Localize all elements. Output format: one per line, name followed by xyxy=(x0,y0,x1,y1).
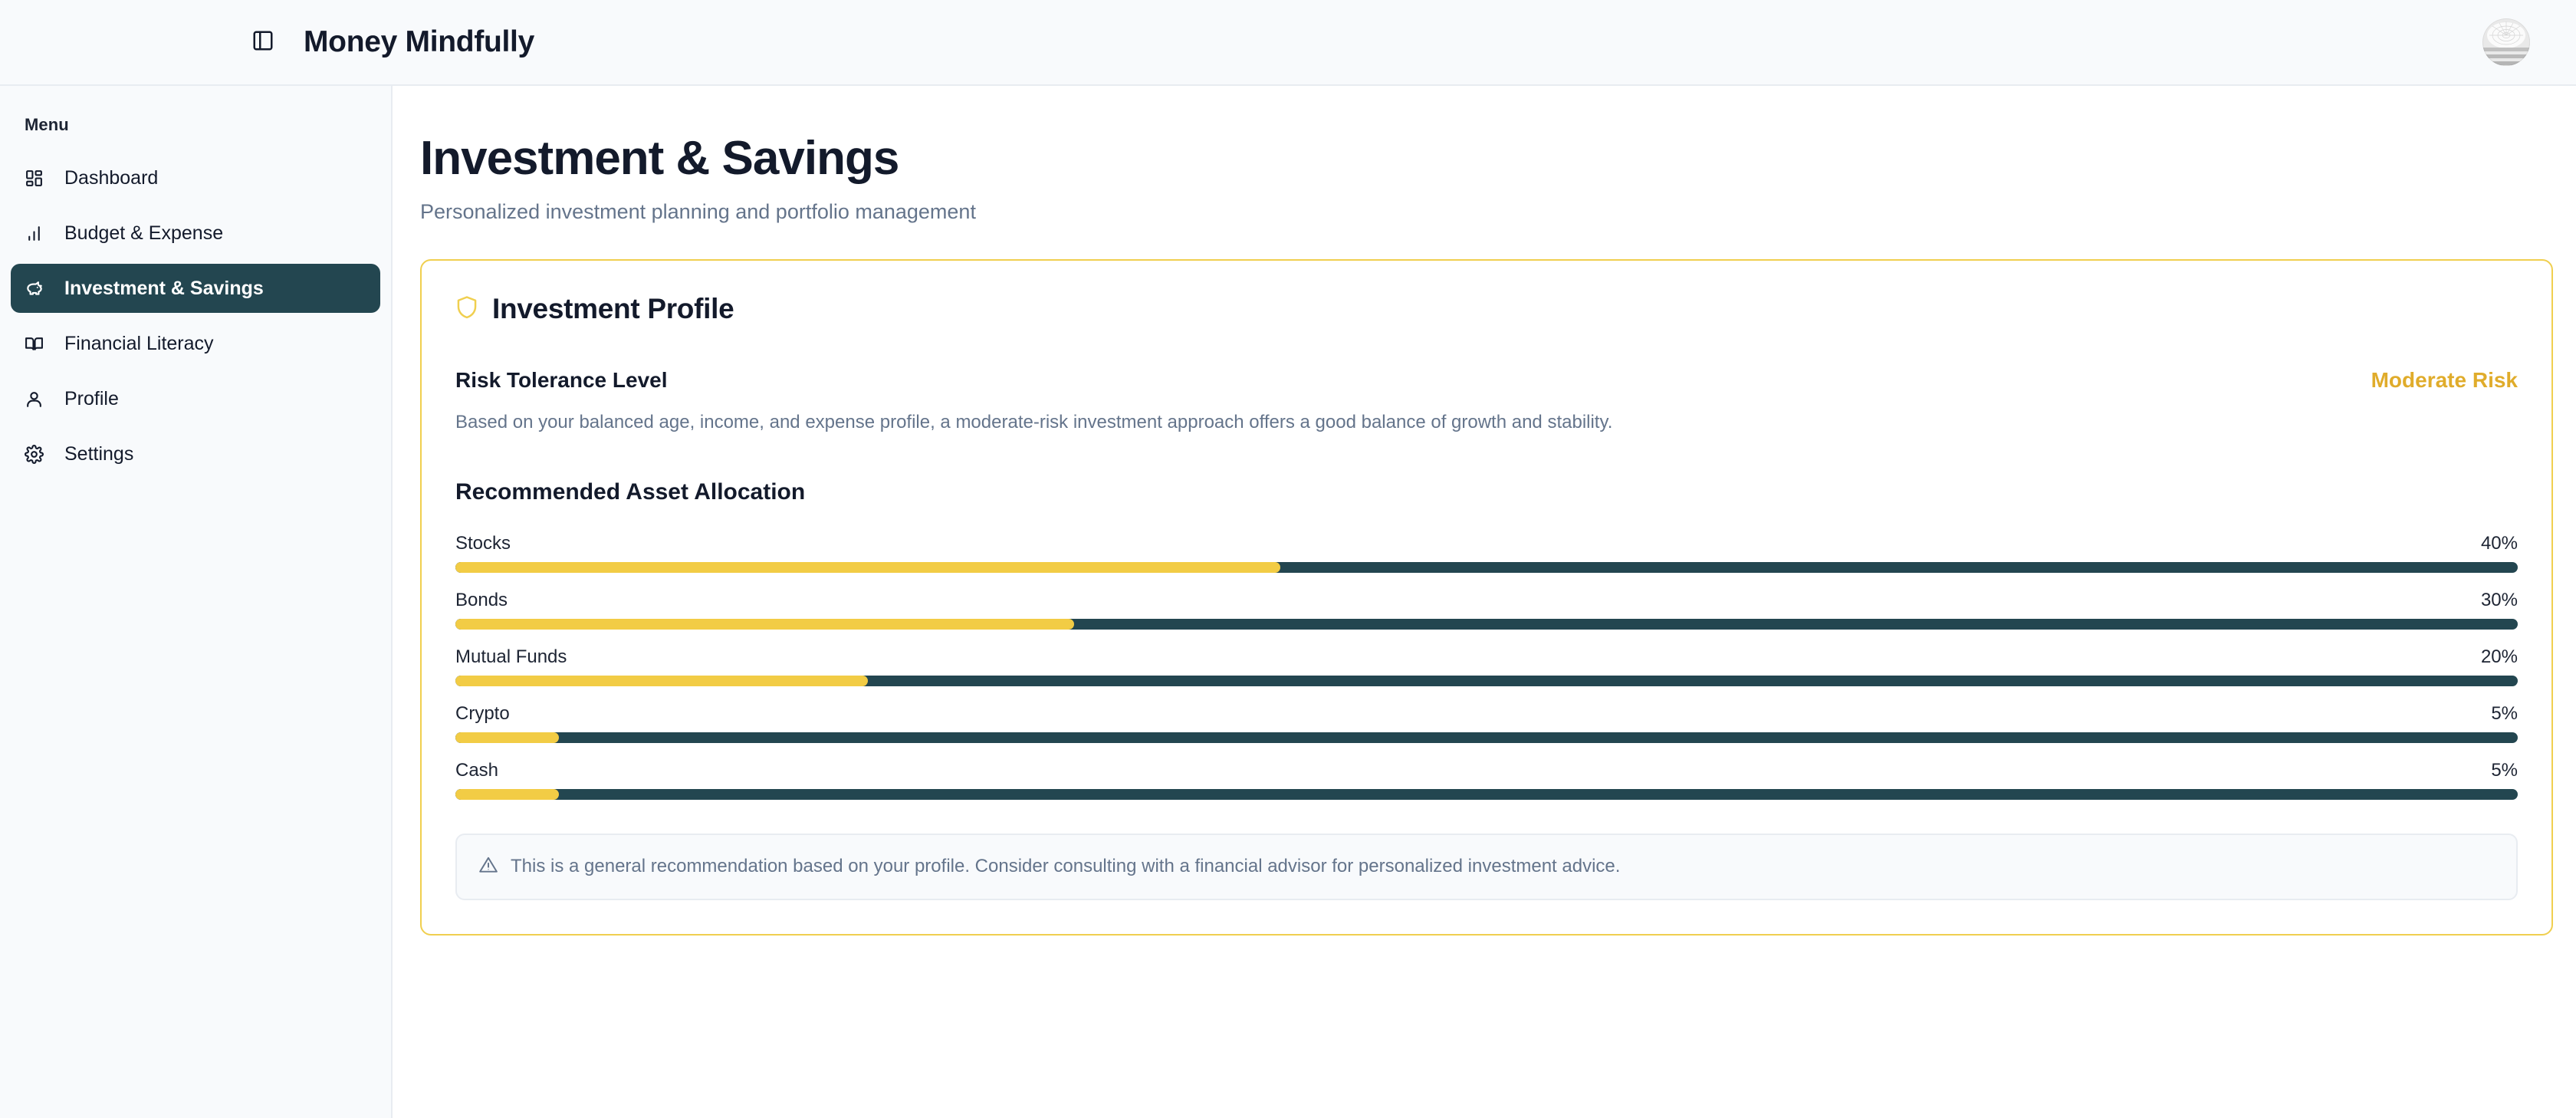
sidebar-item-budget-expense[interactable]: Budget & Expense xyxy=(11,209,380,258)
user-icon xyxy=(25,386,55,412)
layout-dashboard-icon xyxy=(25,165,55,191)
allocation-progress-fill xyxy=(455,619,1074,630)
user-avatar-image xyxy=(2482,18,2530,66)
allocation-progress-track[interactable] xyxy=(455,562,2518,573)
sidebar-item-financial-literacy[interactable]: Financial Literacy xyxy=(11,319,380,368)
card-header: Investment Profile xyxy=(455,293,2518,325)
sidebar-section-label: Menu xyxy=(0,115,391,135)
shield-icon xyxy=(455,295,478,324)
gear-icon xyxy=(25,441,55,467)
sidebar-item-investment-savings[interactable]: Investment & Savings xyxy=(11,264,380,313)
page-title: Investment & Savings xyxy=(420,133,2527,183)
allocation-progress-track[interactable] xyxy=(455,789,2518,800)
avatar[interactable] xyxy=(2482,18,2530,66)
app-title: Money Mindfully xyxy=(304,25,534,59)
allocation-label: Stocks xyxy=(455,533,511,554)
allocation-label: Mutual Funds xyxy=(455,646,567,668)
bar-chart-icon xyxy=(25,220,55,246)
allocation-value: 30% xyxy=(2481,590,2518,611)
sidebar-item-label: Profile xyxy=(64,388,119,410)
allocation-value: 5% xyxy=(2491,703,2518,725)
sidebar-item-settings[interactable]: Settings xyxy=(11,429,380,478)
top-bar: Money Mindfully xyxy=(0,0,2576,86)
sidebar-item-label: Financial Literacy xyxy=(64,333,214,355)
sidebar-item-profile[interactable]: Profile xyxy=(11,374,380,423)
sidebar-toggle-button[interactable] xyxy=(245,25,281,60)
allocation-value: 40% xyxy=(2481,533,2518,554)
allocation-row: Bonds 30% xyxy=(455,590,2518,630)
disclaimer-text: This is a general recommendation based o… xyxy=(511,856,1620,877)
warning-triangle-icon xyxy=(478,855,498,879)
allocation-row: Stocks 40% xyxy=(455,533,2518,573)
allocation-value: 20% xyxy=(2481,646,2518,668)
risk-tolerance-heading: Risk Tolerance Level xyxy=(455,368,668,393)
allocation-progress-fill xyxy=(455,789,559,800)
sidebar-item-label: Investment & Savings xyxy=(64,278,264,300)
allocation-value: 5% xyxy=(2491,760,2518,781)
sidebar-item-label: Settings xyxy=(64,443,133,465)
piggy-bank-icon xyxy=(25,275,55,301)
allocation-progress-track[interactable] xyxy=(455,676,2518,686)
allocation-progress-fill xyxy=(455,562,1280,573)
allocation-label: Cash xyxy=(455,760,498,781)
allocation-row: Crypto 5% xyxy=(455,703,2518,743)
allocation-row: Cash 5% xyxy=(455,760,2518,800)
allocation-progress-fill xyxy=(455,676,868,686)
allocation-progress-fill xyxy=(455,732,559,743)
allocation-progress-track[interactable] xyxy=(455,619,2518,630)
disclaimer-note: This is a general recommendation based o… xyxy=(455,834,2518,900)
allocation-row: Mutual Funds 20% xyxy=(455,646,2518,686)
allocation-label: Crypto xyxy=(455,703,510,725)
page-subtitle: Personalized investment planning and por… xyxy=(420,200,2527,224)
sidebar: Menu Dashboard Budget & Expense Investme… xyxy=(0,86,393,1118)
risk-description: Based on your balanced age, income, and … xyxy=(455,409,2518,436)
sidebar-toggle-icon xyxy=(251,29,274,56)
allocation-progress-track[interactable] xyxy=(455,732,2518,743)
risk-tolerance-row: Risk Tolerance Level Moderate Risk xyxy=(455,368,2518,393)
allocation-heading: Recommended Asset Allocation xyxy=(455,479,2518,505)
main-content: Investment & Savings Personalized invest… xyxy=(393,86,2576,1118)
card-title: Investment Profile xyxy=(492,293,734,325)
allocation-label: Bonds xyxy=(455,590,508,611)
asset-allocation-list: Stocks 40% Bonds 30% Mutual Funds xyxy=(455,533,2518,800)
sidebar-item-dashboard[interactable]: Dashboard xyxy=(11,153,380,202)
sidebar-item-label: Budget & Expense xyxy=(64,222,223,245)
sidebar-item-label: Dashboard xyxy=(64,167,158,189)
risk-level-badge: Moderate Risk xyxy=(2371,368,2518,393)
book-open-icon xyxy=(25,330,55,357)
investment-profile-card: Investment Profile Risk Tolerance Level … xyxy=(420,259,2553,936)
